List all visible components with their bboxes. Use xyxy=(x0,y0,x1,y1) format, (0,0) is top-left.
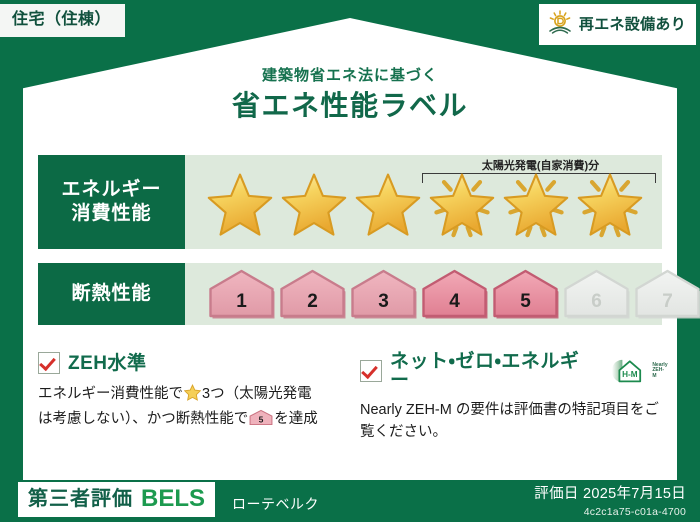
energy-label-line1: エネルギー xyxy=(61,178,161,202)
energy-star-rating xyxy=(205,159,645,245)
bels-certification-mark: 第三者評価 BELS xyxy=(18,482,215,517)
net-zero-energy-title: ネット・ゼロ・エネルギー xyxy=(390,352,595,390)
svg-text:5: 5 xyxy=(259,415,264,425)
evaluation-date-block: 評価日 2025年7月15日 4c2c1a75-c01a-4700 xyxy=(534,482,686,518)
insulation-level-number: 4 xyxy=(420,291,489,313)
insulation-level-7: 7 xyxy=(633,268,700,320)
owner-name: ローテベルク xyxy=(232,494,319,514)
zeh-standard-title: ZEH水準 xyxy=(68,354,147,373)
zeh-desc-part3: は考慮しない）、かつ断熱性能で xyxy=(38,411,248,427)
net-zero-energy-description: Nearly ZEH-M の要件は評価書の特記項目をご覧ください。 xyxy=(360,399,668,444)
inline-insulation-house-icon: 5 xyxy=(249,409,273,433)
energy-performance-body: 太陽光発電(自家消費)分 xyxy=(185,155,662,249)
evaluation-date-label: 評価日 xyxy=(534,486,578,502)
zeh-m-logo: H-M Nearly ZEH-M xyxy=(609,358,668,384)
insulation-level-4: 4 xyxy=(420,268,489,320)
evaluation-date: 評価日 2025年7月15日 xyxy=(534,482,686,503)
zeh-checkbox-checked-icon xyxy=(38,352,60,374)
energy-performance-row: エネルギー 消費性能 太陽光発電(自家消費)分 xyxy=(38,155,662,249)
renewable-energy-badge: 再エネ設備あり xyxy=(539,4,696,45)
insulation-label-text: 断熱性能 xyxy=(71,282,151,306)
bels-jp-label: 第三者評価 xyxy=(28,489,133,509)
nze-checkbox-checked-icon xyxy=(360,360,382,382)
label-subtitle: 建築物省エネ法に基づく xyxy=(0,64,700,85)
insulation-level-1: 1 xyxy=(207,268,276,320)
label-root: 住宅（住棟） 再エネ設備あり 建築物省エネ法に基づく 省エネ性能ラベル xyxy=(0,0,700,522)
insulation-level-number: 3 xyxy=(349,291,418,313)
insulation-level-number: 1 xyxy=(207,291,276,313)
footer-bar: 第三者評価 BELS ローテベルク 評価日 2025年7月15日 4c2c1a7… xyxy=(0,478,700,522)
zeh-standard-header: ZEH水準 xyxy=(38,352,334,374)
insulation-level-2: 2 xyxy=(278,268,347,320)
zeh-desc-part1: エネルギー消費性能で xyxy=(38,386,183,402)
energy-star-3 xyxy=(353,159,423,245)
energy-label-line2: 消費性能 xyxy=(71,202,151,226)
evaluation-date-value: 2025年7月15日 xyxy=(583,486,686,502)
inline-star-icon xyxy=(184,384,201,408)
energy-star-2 xyxy=(279,159,349,245)
solar-sun-icon xyxy=(547,10,573,39)
insulation-level-scale: 1234567 xyxy=(207,268,700,320)
insulation-level-number: 5 xyxy=(491,291,560,313)
bels-en-label: BELS xyxy=(141,487,205,511)
insulation-level-number: 7 xyxy=(633,291,700,313)
zeh-standard-description: エネルギー消費性能で 3つ（太陽光発電 は考慮しない）、かつ断熱性能で 5 を達… xyxy=(38,383,334,434)
zeh-m-logo-sub: Nearly ZEH-M xyxy=(652,363,668,379)
document-id: 4c2c1a75-c01a-4700 xyxy=(534,506,686,518)
insulation-performance-label: 断熱性能 xyxy=(38,263,185,325)
insulation-level-5: 5 xyxy=(491,268,560,320)
insulation-level-number: 2 xyxy=(278,291,347,313)
insulation-performance-row: 断熱性能 1234567 xyxy=(38,263,662,325)
energy-star-6 xyxy=(575,159,645,245)
energy-star-5 xyxy=(501,159,571,245)
zeh-standard-section: ZEH水準 エネルギー消費性能で 3つ（太陽光発電 は考慮しない）、かつ断熱性能… xyxy=(38,352,334,434)
energy-star-1 xyxy=(205,159,275,245)
net-zero-energy-header: ネット・ゼロ・エネルギー H-M Nearly xyxy=(360,352,668,390)
page-title: 省エネ性能ラベル xyxy=(0,84,700,124)
insulation-level-6: 6 xyxy=(562,268,631,320)
zeh-desc-part4: を達成 xyxy=(274,411,318,427)
building-type-tag: 住宅（住棟） xyxy=(0,4,125,37)
renewable-energy-badge-label: 再エネ設備あり xyxy=(579,17,686,32)
insulation-performance-body: 1234567 xyxy=(185,263,662,325)
zeh-m-sub-line2: ZEH-M xyxy=(652,368,668,379)
insulation-level-3: 3 xyxy=(349,268,418,320)
energy-star-4 xyxy=(427,159,497,245)
insulation-level-number: 6 xyxy=(562,291,631,313)
svg-text:H-M: H-M xyxy=(622,370,638,379)
net-zero-energy-section: ネット・ゼロ・エネルギー H-M Nearly xyxy=(360,352,668,444)
energy-performance-label: エネルギー 消費性能 xyxy=(38,155,185,249)
zeh-desc-part2: 3つ（太陽光発電 xyxy=(202,386,312,402)
